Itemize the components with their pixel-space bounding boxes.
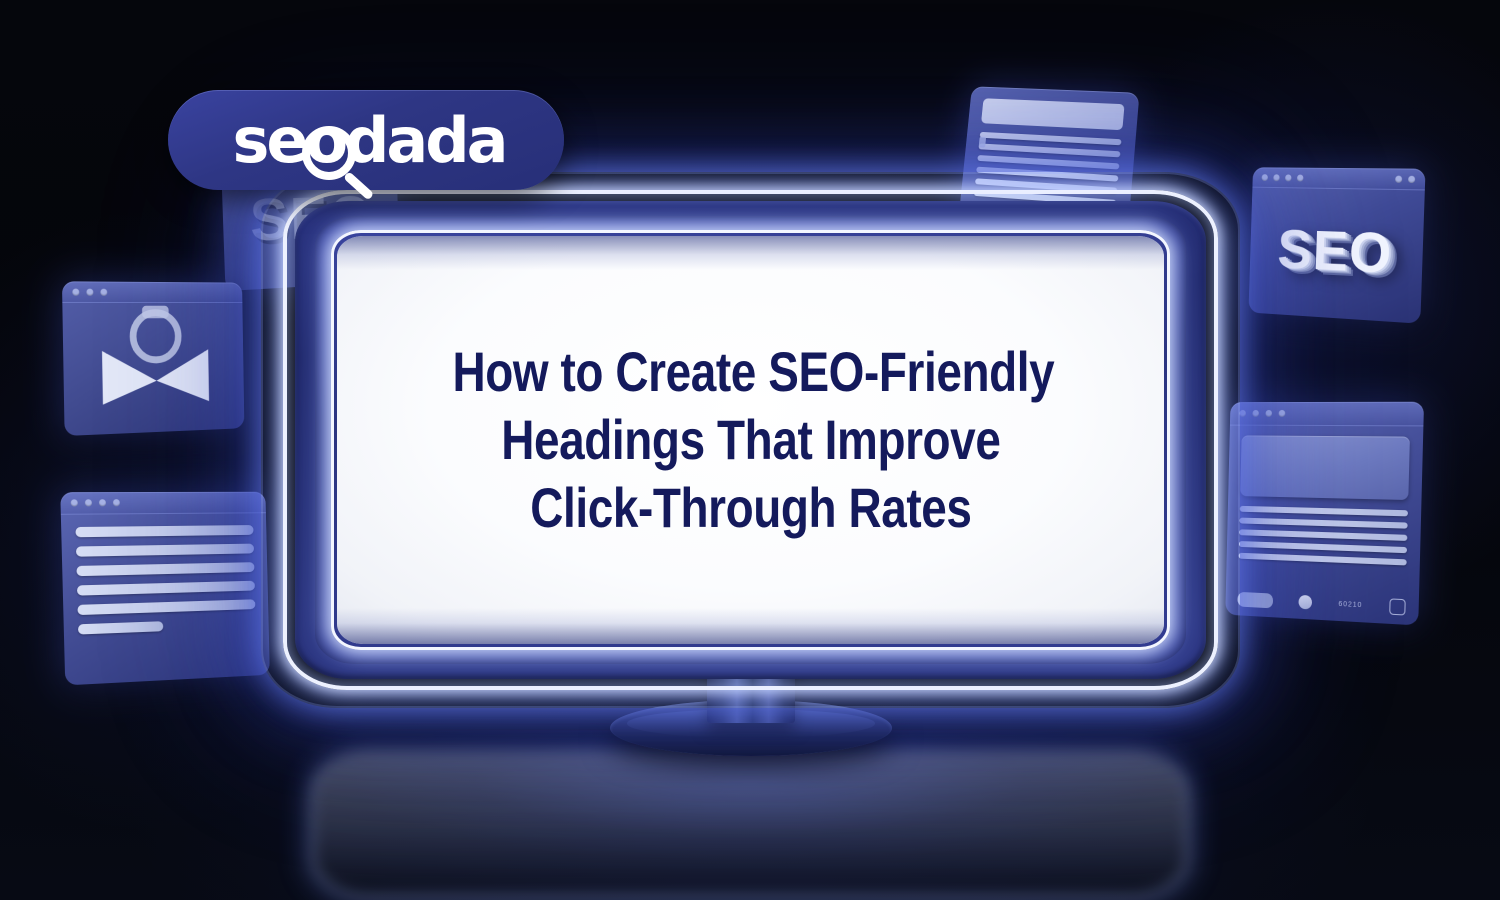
window-dots-right (1395, 175, 1415, 182)
bookmark-icon (979, 137, 986, 148)
text-line (980, 132, 1122, 145)
bowtie-shape-icon (81, 303, 227, 417)
footer-circle-icon (1299, 595, 1313, 610)
window-dot-icon (72, 288, 79, 295)
text-line (978, 143, 1120, 157)
card-titlebar (60, 492, 266, 515)
window-dot-icon (1265, 410, 1272, 417)
text-line (1239, 518, 1407, 529)
window-dot-icon (1273, 174, 1280, 181)
footer-pill-icon (1237, 591, 1273, 608)
brand-logo[interactable]: seodada (168, 90, 564, 190)
card-browser-preview: 60210 (1225, 402, 1424, 626)
window-dot-icon (1395, 175, 1402, 182)
card-header-bar (981, 98, 1125, 130)
card-seo-label: SEO (1248, 181, 1425, 324)
monitor-reflection (310, 748, 1190, 900)
card-text-lines (61, 513, 269, 647)
window-dot-icon (71, 499, 78, 506)
text-line (1239, 553, 1407, 566)
brand-logo-text: seodada (227, 104, 506, 177)
text-line (75, 525, 253, 537)
window-dot-icon (1239, 410, 1246, 417)
window-dots-left (1262, 174, 1304, 181)
text-line (1239, 541, 1407, 553)
card-abstract-graphic (62, 281, 244, 436)
window-dot-icon (1279, 410, 1286, 417)
title-line-3: Click-Through Rates (452, 474, 1049, 542)
footer-square-icon (1389, 598, 1406, 615)
card-titlebar (1230, 402, 1424, 427)
card-text-lines (1227, 496, 1422, 566)
monitor-screen: How to Create SEO-Friendly Headings That… (337, 236, 1164, 644)
window-dot-icon (100, 288, 107, 295)
window-dot-icon (1262, 174, 1268, 181)
text-line (77, 599, 255, 615)
window-dot-icon (1285, 174, 1292, 181)
poster-canvas: SEO (0, 0, 1500, 900)
card-image-block (1240, 435, 1410, 500)
title-line-1: How to Create SEO-Friendly (452, 338, 1049, 406)
window-dot-icon (85, 499, 92, 506)
title-line-2: Headings That Improve (452, 406, 1049, 474)
text-line (76, 544, 254, 557)
card-footer: 60210 (1237, 591, 1405, 616)
curved-monitor: How to Create SEO-Friendly Headings That… (283, 190, 1218, 690)
text-line (76, 562, 254, 576)
window-dot-icon (1252, 410, 1259, 417)
card-text-document (60, 492, 270, 686)
text-line (1239, 529, 1407, 541)
page-title: How to Create SEO-Friendly Headings That… (452, 338, 1049, 543)
window-dot-icon (1297, 174, 1304, 181)
window-dot-icon (86, 288, 93, 295)
footer-label: 60210 (1338, 600, 1362, 608)
window-dot-icon (113, 499, 120, 506)
text-line (78, 621, 164, 634)
text-line (77, 581, 255, 596)
card-titlebar (62, 281, 242, 303)
card-seo: SEO (1248, 167, 1425, 323)
window-dot-icon (1408, 175, 1415, 182)
window-dot-icon (99, 499, 106, 506)
reflection-rim (310, 750, 1190, 900)
text-line (1240, 506, 1408, 517)
